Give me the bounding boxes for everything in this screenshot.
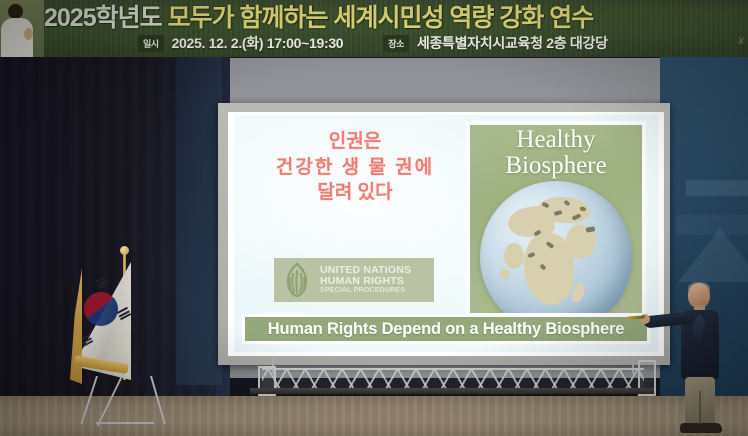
un-human-rights-flame-icon (280, 262, 314, 298)
un-human-rights-logo: UNITED NATIONS HUMAN RIGHTS SPECIAL PROC… (274, 258, 434, 302)
stage-edge-shadow (250, 388, 654, 394)
banner-title: 2025학년도 모두가 함께하는 세계시민성 역량 강화 연수 (44, 0, 748, 34)
right-wall-chevron (678, 228, 748, 282)
banner-photo-head (8, 4, 23, 19)
banner-place-value: 세종특별자치시교육청 2층 대강당 (417, 33, 608, 53)
slide-korean-headline: 인권은 건강한 생 물 권에 달려 있다 (246, 129, 464, 206)
un-logo-line-2: HUMAN RIGHTS (320, 276, 411, 287)
banner-title-highlight: 모두가 함께하는 세계시민성 역량 강화 연수 (168, 4, 594, 32)
auditorium-photo: 2025학년도 모두가 함께하는 세계시민성 역량 강화 연수 일시 2025.… (0, 0, 748, 436)
biosphere-title-line-1: Healthy (470, 127, 642, 153)
flag-stand-bar (97, 374, 124, 426)
un-logo-line-3: SPECIAL PROCEDURES (320, 287, 411, 294)
flag-finial-icon (120, 246, 129, 255)
banner-place-tag: 장소 (383, 35, 409, 52)
globe-landmass (500, 269, 510, 279)
event-banner: 2025학년도 모두가 함께하는 세계시민성 역량 강화 연수 일시 2025.… (0, 0, 748, 57)
presenter-leg-separation (699, 391, 701, 425)
presentation-slide: 인권은 건강한 생 물 권에 달려 있다 UNIT (234, 115, 658, 352)
globe-africa-europe-icon (480, 181, 632, 313)
healthy-biosphere-inner: Healthy Biosphere (470, 125, 642, 313)
healthy-biosphere-panel: Healthy Biosphere (466, 121, 646, 317)
banner-date-tag: 일시 (138, 35, 164, 52)
headline-line-1: 인권은 (246, 129, 464, 155)
presenter-shoe (698, 423, 722, 433)
stage-curtain-right-panel (176, 55, 222, 385)
headline-line-3: 달려 있다 (246, 180, 464, 206)
flag-stand-bar (96, 422, 154, 424)
banner-title-prefix: 2025학년도 (44, 4, 168, 32)
banner-date-value: 2025. 12. 2.(화) 17:00~19:30 (172, 33, 344, 53)
flag-stand (96, 376, 156, 424)
globe-landmass (504, 243, 524, 269)
banner-info-row: 일시 2025. 12. 2.(화) 17:00~19:30 장소 세종특별자치… (0, 30, 748, 56)
right-wall-panel-upper (686, 180, 748, 196)
biosphere-title-line-2: Biosphere (470, 153, 642, 179)
banner-watermark: X (738, 36, 744, 46)
slide-caption-wrap: Human Rights Depend on a Healthy Biosphe… (242, 314, 650, 344)
presenter-pointing-at-screen (660, 283, 732, 436)
healthy-biosphere-title: Healthy Biosphere (470, 127, 642, 178)
un-logo-text: UNITED NATIONS HUMAN RIGHTS SPECIAL PROC… (320, 265, 411, 295)
headline-line-2: 건강한 생 물 권에 (246, 155, 464, 181)
slide-caption: Human Rights Depend on a Healthy Biosphe… (245, 317, 647, 341)
